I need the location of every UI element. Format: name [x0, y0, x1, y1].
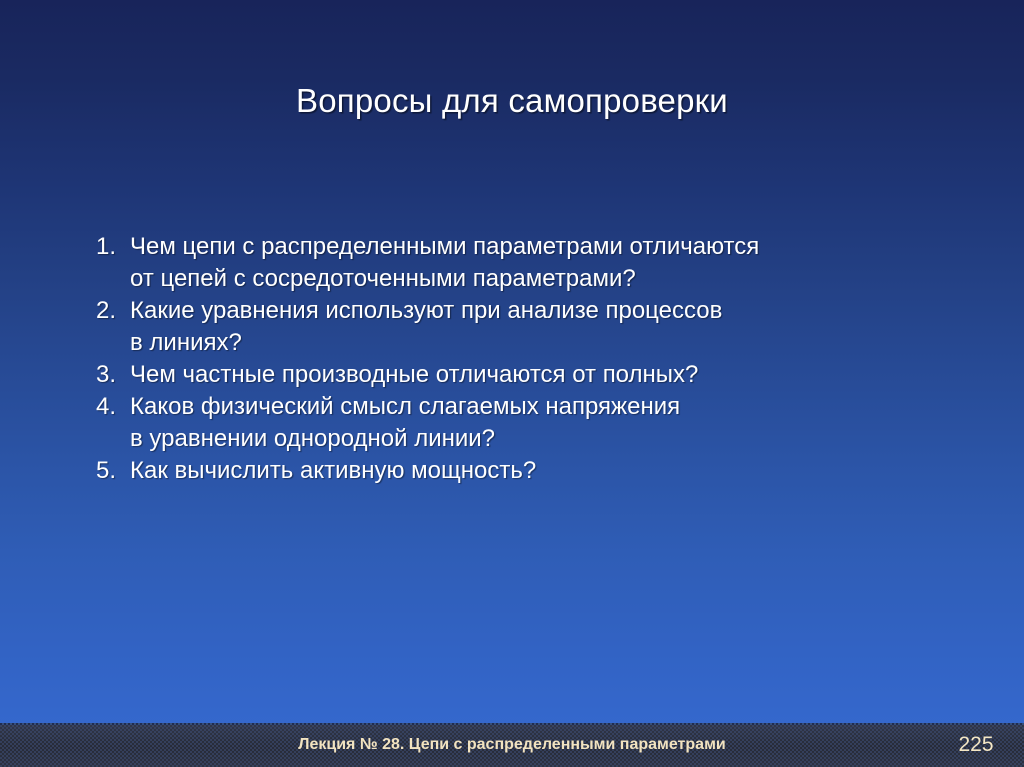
list-item-number: 3. — [88, 359, 116, 391]
list-item-number: 2. — [88, 295, 116, 327]
list-item: 2.Какие уравнения используют при анализе… — [88, 295, 948, 359]
page-title: Вопросы для самопроверки — [296, 80, 728, 122]
list-item-line: в линиях? — [130, 327, 948, 359]
footer-top-edge — [0, 723, 1024, 725]
list-item-line: в уравнении однородной линии? — [130, 423, 948, 455]
footer-band: Лекция № 28. Цепи с распределенными пара… — [0, 723, 1024, 767]
title-area: Вопросы для самопроверки — [0, 58, 1024, 144]
list-item: 4.Каков физический смысл слагаемых напря… — [88, 391, 948, 455]
list-item-line: Чем цепи с распределенными параметрами о… — [130, 231, 948, 263]
list-item: 5.Как вычислить активную мощность? — [88, 455, 948, 487]
list-item: 3.Чем частные производные отличаются от … — [88, 359, 948, 391]
questions-list: 1.Чем цепи с распределенными параметрами… — [88, 231, 948, 487]
page-number: 225 — [944, 731, 1008, 759]
list-item-line: от цепей с сосредоточенными параметрами? — [130, 263, 948, 295]
list-item-line: Как вычислить активную мощность? — [130, 455, 948, 487]
footer-lecture-label: Лекция № 28. Цепи с распределенными пара… — [0, 734, 1024, 756]
list-item-line: Какие уравнения используют при анализе п… — [130, 295, 948, 327]
presentation-slide: Вопросы для самопроверки 1.Чем цепи с ра… — [0, 0, 1024, 767]
list-item: 1.Чем цепи с распределенными параметрами… — [88, 231, 948, 295]
list-item-line: Каков физический смысл слагаемых напряже… — [130, 391, 948, 423]
list-item-number: 5. — [88, 455, 116, 487]
list-item-line: Чем частные производные отличаются от по… — [130, 359, 948, 391]
list-item-number: 1. — [88, 231, 116, 263]
list-item-number: 4. — [88, 391, 116, 423]
